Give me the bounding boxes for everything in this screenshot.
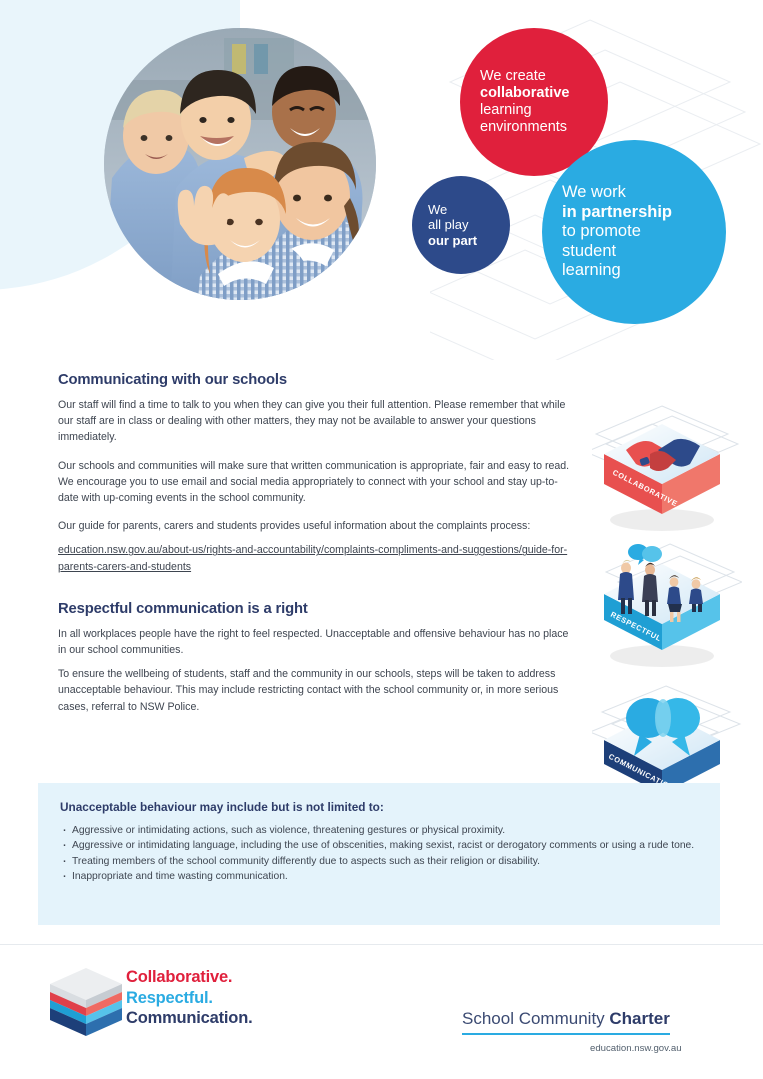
section-heading-communicating: Communicating with our schools (58, 372, 570, 388)
paragraph-respectful-2: To ensure the wellbeing of students, sta… (58, 666, 570, 715)
circle-cyan-line4: student (562, 242, 616, 260)
circle-cyan-line2: in partnership (562, 203, 672, 221)
circle-navy-line3: our part (428, 233, 477, 248)
paragraph-communicating-2: Our schools and communities will make su… (58, 458, 570, 507)
stacked-cube-logo-icon (48, 966, 124, 1040)
list-item: Aggressive or intimidating actions, such… (60, 823, 698, 838)
paragraph-communicating-3: Our guide for parents, carers and studen… (58, 518, 570, 534)
logo-word-respectful: Respectful. (126, 988, 252, 1009)
circle-red-line1: We create (480, 68, 546, 84)
message-circle-our-part: We all play our part (412, 176, 510, 274)
footer-divider (0, 944, 763, 945)
paragraph-respectful-1: In all workplaces people have the right … (58, 626, 570, 658)
circle-cyan-line5: learning (562, 261, 621, 279)
circle-cyan-line3: to promote (562, 222, 641, 240)
complaints-guide-link[interactable]: education.nsw.gov.au/about-us/rights-and… (58, 542, 570, 574)
circle-red-line2: collaborative (480, 85, 569, 101)
charter-title-bold: Charter (609, 1009, 669, 1028)
circle-navy-line1: We (428, 202, 447, 217)
section-heading-respectful: Respectful communication is a right (58, 601, 570, 617)
paragraph-communicating-1: Our staff will find a time to talk to yo… (58, 397, 570, 446)
logo-wordmark: Collaborative. Respectful. Communication… (126, 967, 252, 1029)
respectful-cube-icon: RESPECTFUL (592, 538, 742, 668)
logo-word-collaborative: Collaborative. (126, 967, 252, 988)
hero-photo-children (104, 28, 376, 300)
callout-heading: Unacceptable behaviour may include but i… (60, 800, 698, 814)
circle-red-line4: environments (480, 119, 567, 135)
circle-navy-line2: all play (428, 217, 468, 232)
charter-title-regular: School Community (462, 1009, 609, 1028)
section-spacer (58, 587, 570, 601)
circle-red-line3: learning (480, 102, 532, 118)
list-item: Treating members of the school community… (60, 854, 698, 869)
logo-word-communication: Communication. (126, 1008, 252, 1029)
callout-list: Aggressive or intimidating actions, such… (60, 823, 698, 884)
footer-url: education.nsw.gov.au (590, 1043, 682, 1054)
list-item: Inappropriate and time wasting communica… (60, 869, 698, 884)
unacceptable-behaviour-callout: Unacceptable behaviour may include but i… (38, 783, 720, 925)
school-community-charter-title: School Community Charter (462, 1009, 670, 1035)
list-item: Aggressive or intimidating language, inc… (60, 838, 698, 853)
message-circle-partnership: We work in partnership to promote studen… (542, 140, 726, 324)
collaborative-cube-icon: COLLABORATIVE (592, 402, 742, 532)
charter-page: We create collaborative learning environ… (0, 0, 763, 1079)
body-content: Communicating with our schools Our staff… (58, 372, 570, 727)
circle-cyan-line1: We work (562, 183, 626, 201)
